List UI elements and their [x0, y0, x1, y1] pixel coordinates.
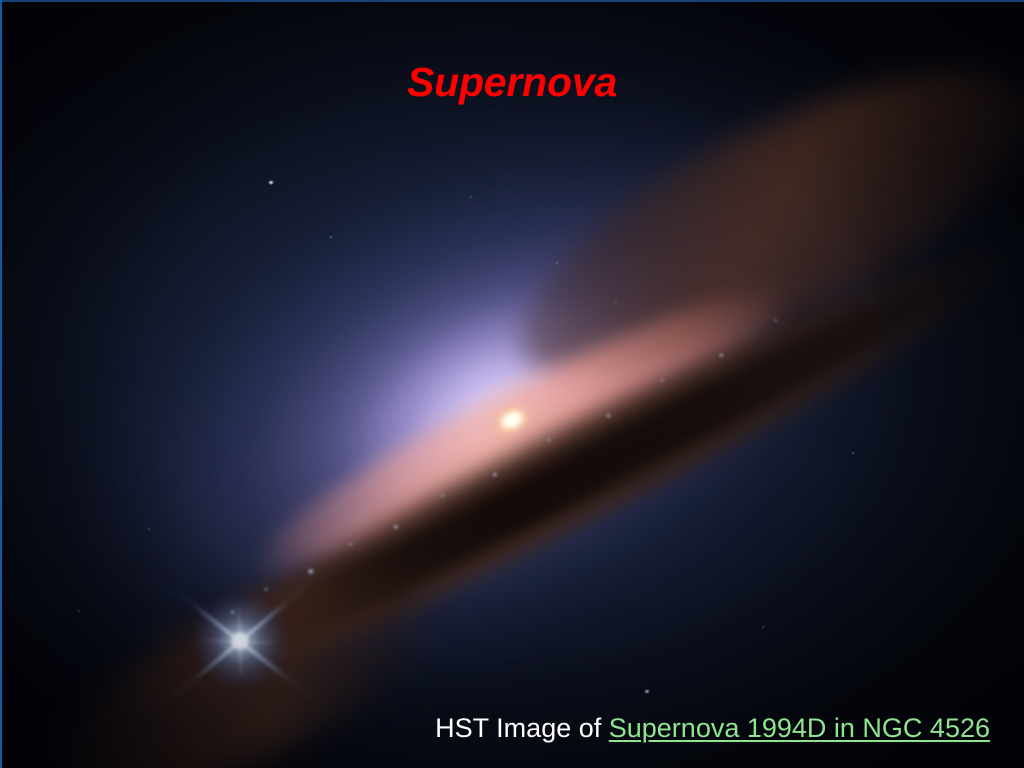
image-caption: HST Image of Supernova 1994D in NGC 4526: [0, 712, 1024, 745]
slide-top-border: [0, 0, 1024, 2]
caption-prefix-text: HST Image of: [435, 713, 609, 743]
slide-title: Supernova: [0, 58, 1024, 106]
image-vignette: [0, 0, 1024, 768]
slide-left-border: [0, 0, 2, 768]
slide-root: Supernova HST Image of Supernova 1994D i…: [0, 0, 1024, 768]
hst-supernova-photo: [0, 0, 1024, 768]
supernova-reference-link[interactable]: Supernova 1994D in NGC 4526: [609, 713, 990, 743]
